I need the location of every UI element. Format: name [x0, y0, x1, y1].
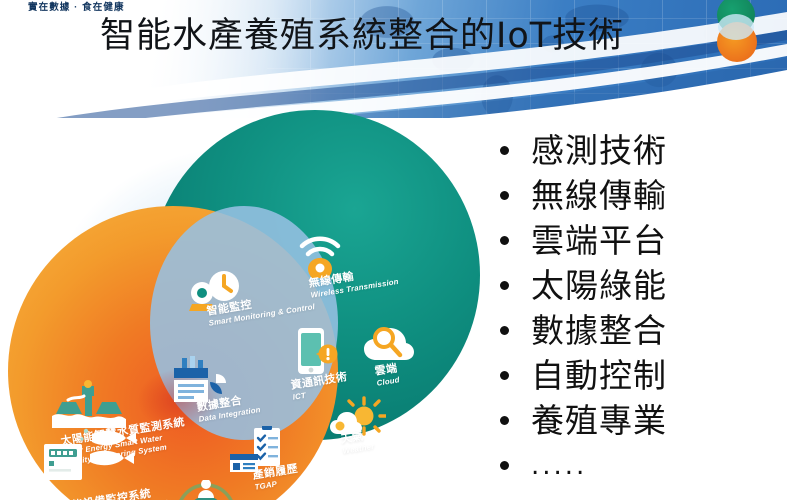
bullet-label: 養殖專業	[531, 403, 667, 439]
bullet-label: .....	[531, 448, 587, 484]
page-title: 智能水產養殖系統整合的IoT技術	[100, 16, 624, 56]
bullet-dot-icon	[500, 461, 509, 470]
logo-tagline: 實在數據 · 食在健康	[28, 0, 125, 13]
list-item[interactable]: 雲端平台	[500, 218, 780, 263]
bullet-label: 雲端平台	[531, 223, 667, 259]
bullet-dot-icon	[500, 281, 509, 290]
feature-bullet-list: 感測技術 無線傳輸 雲端平台 太陽綠能 數據整合 自動控制 養殖專業 ....	[500, 128, 780, 488]
slide-canvas: 財團法人國家實驗研究院 實在數據 · 食在健康 智能水產養殖系統整合的IoT技術…	[0, 0, 787, 500]
bullet-label: 數據整合	[531, 313, 667, 349]
list-item[interactable]: .....	[500, 443, 780, 488]
bullet-label: 無線傳輸	[531, 178, 667, 214]
label-cloud: 雲端 Cloud	[374, 362, 400, 388]
bullet-label: 自動控制	[531, 358, 667, 394]
bullet-dot-icon	[500, 326, 509, 335]
smartphone-alert-icon	[290, 326, 338, 378]
list-item[interactable]: 數據整合	[500, 308, 780, 353]
list-item[interactable]: 自動控制	[500, 353, 780, 398]
venn-logo-icon	[705, 0, 765, 66]
list-item[interactable]: 無線傳輸	[500, 173, 780, 218]
venn-logo-blue-overlap	[718, 14, 754, 40]
bullet-label: 感測技術	[531, 133, 667, 169]
experts-group-icon	[168, 480, 244, 500]
list-item[interactable]: 太陽綠能	[500, 263, 780, 308]
bullet-dot-icon	[500, 416, 509, 425]
bullet-dot-icon	[500, 371, 509, 380]
bullet-dot-icon	[500, 146, 509, 155]
bullet-label: 太陽綠能	[531, 268, 667, 304]
solar-water-icon	[52, 380, 126, 432]
list-item[interactable]: 感測技術	[500, 128, 780, 173]
control-panel-fish-icon	[42, 426, 138, 486]
bullet-dot-icon	[500, 191, 509, 200]
bullet-dot-icon	[500, 236, 509, 245]
cloud-search-icon	[362, 326, 416, 366]
list-item[interactable]: 養殖專業	[500, 398, 780, 443]
venn-diagram: 智能監控 Smart Monitoring & Control 無線傳輸 Wir…	[0, 104, 490, 500]
wifi-location-icon	[296, 228, 344, 278]
